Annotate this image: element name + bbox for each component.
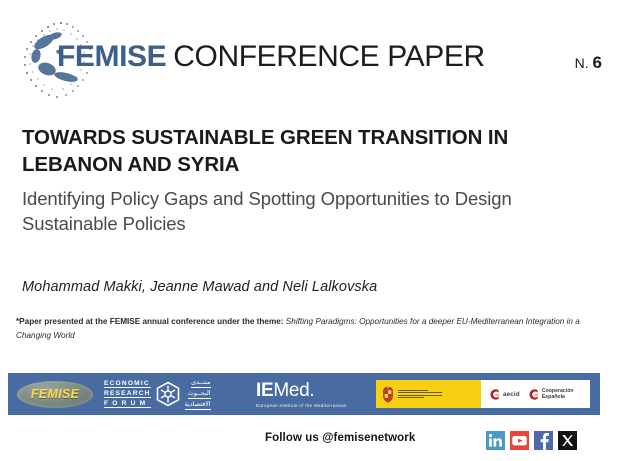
erf-line-2: RESEARCH	[104, 390, 151, 399]
iemed-mark-bold: IE	[256, 380, 273, 401]
title-block: TOWARDS SUSTAINABLE GREEN TRANSITION IN …	[22, 124, 602, 237]
sponsor-bar: FEMISE ECONOMIC RESEARCH F O R U M	[8, 373, 600, 415]
x-icon[interactable]	[558, 431, 577, 450]
sponsor-logo-iemed: IEMed. European Institute of the Mediter…	[256, 373, 366, 415]
linkedin-icon[interactable]	[486, 431, 505, 450]
footnote-lead: *Paper presented at the FEMISE annual co…	[16, 317, 284, 326]
issue-prefix: N.	[575, 55, 589, 71]
page-title: TOWARDS SUSTAINABLE GREEN TRANSITION IN …	[22, 124, 602, 179]
erf-line-1: ECONOMIC	[104, 380, 151, 389]
sponsor-logo-femise: FEMISE	[14, 373, 96, 415]
erf-hexagon-emblem	[155, 381, 181, 407]
sponsor-logo-erf: ECONOMIC RESEARCH F O R U M منتــدى البح…	[104, 373, 244, 415]
aecid-label: aecid	[503, 391, 520, 398]
brand-primary: FEMISE	[57, 40, 166, 73]
aecid-c-icon	[487, 388, 500, 401]
cooperacion-line-1: Cooperación	[542, 388, 574, 394]
sponsor-logo-spain: aecid Cooperación Española	[376, 373, 592, 415]
femise-footer-label: FEMISE	[31, 387, 79, 401]
page-header: FEMISECONFERENCE PAPER N. 6	[0, 0, 624, 118]
spain-coat-of-arms-icon	[381, 386, 395, 403]
page-subtitle: Identifying Policy Gaps and Spotting Opp…	[22, 186, 602, 237]
brand-secondary: CONFERENCE PAPER	[173, 40, 484, 73]
footnote: *Paper presented at the FEMISE annual co…	[16, 315, 608, 343]
erf-arabic-2: البحــوث	[188, 389, 211, 399]
iemed-mark-rest: Med.	[273, 380, 314, 401]
erf-arabic-3: الاقتصادية	[185, 400, 211, 410]
spain-ministry-text	[398, 390, 442, 398]
youtube-icon[interactable]	[510, 431, 529, 450]
follow-text: Follow us @femisenetwork	[265, 432, 415, 444]
spain-ministry-block	[376, 380, 481, 408]
cooperacion-espanola-logo: Cooperación Española	[526, 388, 574, 401]
issue-number: N. 6	[575, 54, 602, 71]
brand-wordmark: FEMISECONFERENCE PAPER	[57, 42, 485, 72]
issue-value: 6	[593, 53, 602, 72]
social-links	[486, 431, 577, 450]
spain-agency-block: aecid Cooperación Española	[481, 380, 590, 408]
cooperacion-line-2: Española	[542, 394, 565, 400]
aecid-logo: aecid	[487, 388, 520, 401]
cooperacion-c-icon	[526, 388, 539, 401]
erf-arabic-1: منتــدى	[191, 378, 210, 388]
iemed-tagline: European Institute of the Mediterranean	[256, 403, 347, 408]
facebook-icon[interactable]	[534, 431, 553, 450]
erf-line-3: F O R U M	[104, 400, 151, 409]
authors-line: Mohammad Makki, Jeanne Mawad and Neli La…	[22, 279, 602, 295]
conference-paper-cover: FEMISECONFERENCE PAPER N. 6 TOWARDS SUST…	[0, 0, 624, 461]
